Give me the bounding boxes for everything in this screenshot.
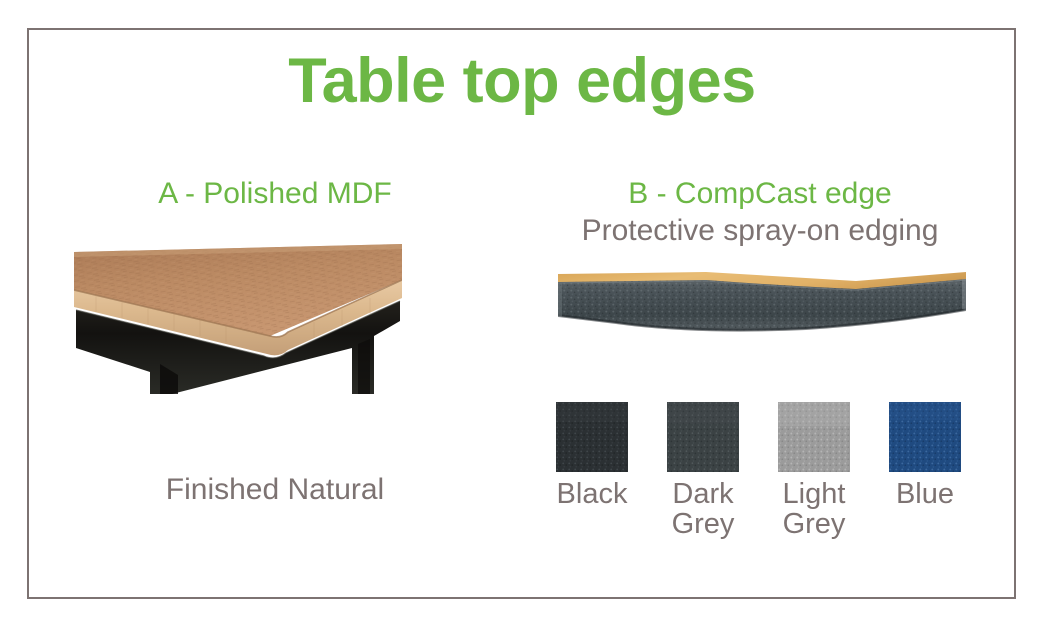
swatch-chip-dark-grey[interactable]	[667, 402, 739, 472]
swatch-chip-light-grey[interactable]	[778, 402, 850, 472]
swatch-blue[interactable]: Blue	[889, 402, 961, 592]
swatch-dark-grey[interactable]: Dark Grey	[667, 402, 739, 592]
column-a-caption: Finished Natural	[50, 473, 500, 507]
table-corner-photo	[74, 244, 402, 394]
swatch-label-black: Black	[557, 479, 628, 509]
swatch-black[interactable]: Black	[556, 402, 628, 592]
swatch-chip-black[interactable]	[556, 402, 628, 472]
page-root: Table top edges A - Polished MDF	[0, 0, 1044, 628]
page-title: Table top edges	[0, 50, 1044, 113]
column-b-subheading: Protective spray-on edging	[530, 215, 990, 247]
column-b-heading: B - CompCast edge	[530, 178, 990, 210]
swatch-label-light-grey: Light Grey	[783, 479, 846, 539]
swatch-light-grey[interactable]: Light Grey	[778, 402, 850, 592]
swatch-label-dark-grey: Dark Grey	[672, 479, 735, 539]
swatch-chip-blue[interactable]	[889, 402, 961, 472]
column-a-heading: A - Polished MDF	[50, 178, 500, 210]
compcast-edge-photo	[556, 268, 968, 346]
swatch-label-blue: Blue	[896, 479, 954, 509]
compcast-colour-swatches: Black Dark Grey	[556, 402, 968, 592]
